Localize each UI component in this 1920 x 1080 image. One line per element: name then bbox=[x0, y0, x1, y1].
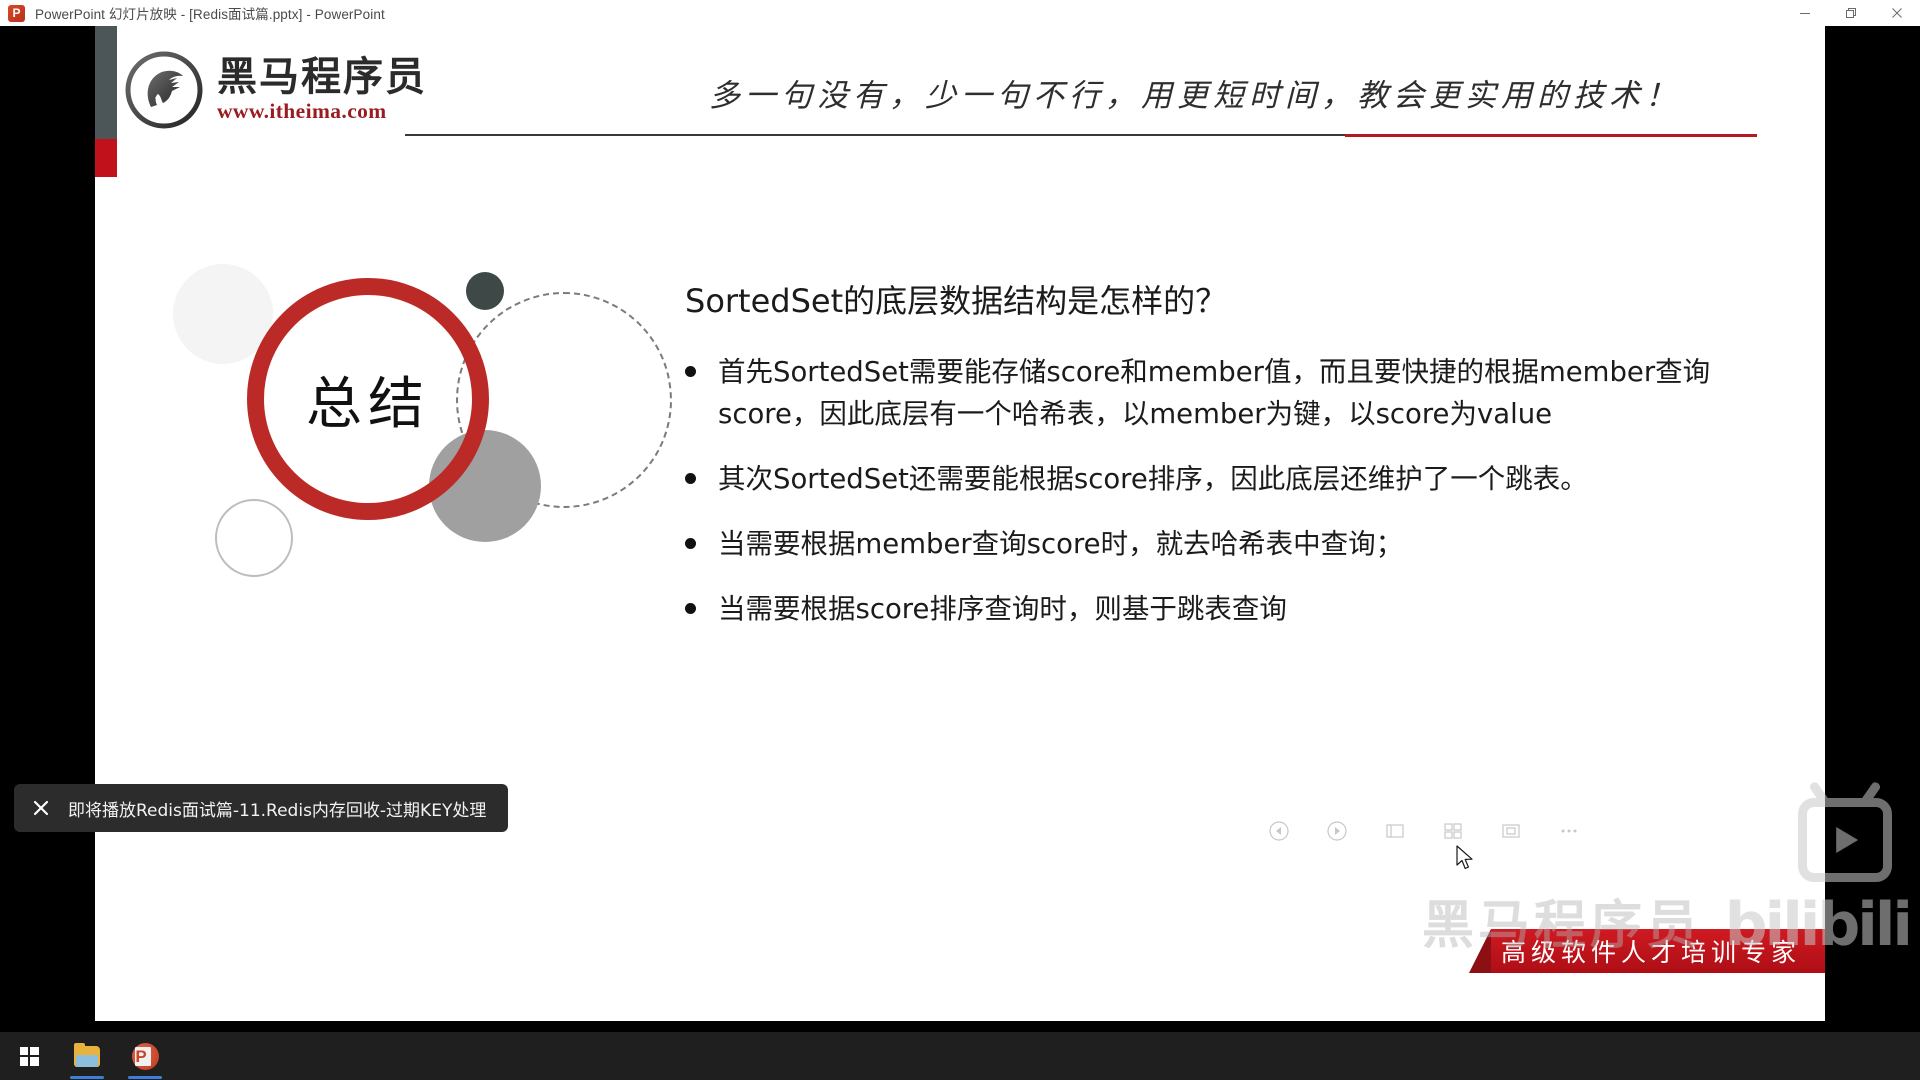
bullet-text: 当需要根据member查询score时，就去哈希表中查询； bbox=[718, 523, 1403, 566]
window-title: PowerPoint 幻灯片放映 - [Redis面试篇.pptx] - Pow… bbox=[35, 3, 385, 23]
zoom-icon[interactable] bbox=[1500, 820, 1522, 842]
tagline-rule-red-segment bbox=[1345, 134, 1757, 137]
file-explorer-icon bbox=[74, 1046, 100, 1067]
horse-head-logo-icon bbox=[125, 51, 203, 129]
bullet-dot-icon bbox=[685, 538, 696, 549]
taskbar-item-file-explorer[interactable] bbox=[58, 1032, 116, 1080]
decor-circle-dark-dot bbox=[466, 272, 504, 310]
brand-url: www.itheima.com bbox=[217, 99, 427, 124]
window-titlebar: P PowerPoint 幻灯片放映 - [Redis面试篇.pptx] - P… bbox=[0, 0, 1920, 26]
list-item: 其次SortedSet还需要能根据score排序，因此底层还维护了一个跳表。 bbox=[685, 458, 1745, 501]
close-button[interactable] bbox=[1874, 0, 1920, 26]
slide-footer-ribbon: 高级软件人才培训专家 bbox=[1469, 929, 1825, 973]
start-button[interactable] bbox=[0, 1032, 58, 1080]
summary-ring: 总结 bbox=[247, 278, 489, 520]
next-slide-icon[interactable] bbox=[1326, 820, 1348, 842]
more-options-icon[interactable] bbox=[1558, 820, 1580, 842]
bullet-text: 首先SortedSet需要能存储score和member值，而且要快捷的根据me… bbox=[718, 351, 1745, 437]
content-heading: SortedSet的底层数据结构是怎样的？ bbox=[685, 281, 1745, 323]
accent-bar-red bbox=[95, 139, 117, 177]
ribbon-label: 高级软件人才培训专家 bbox=[1491, 929, 1825, 973]
slideshow-controls[interactable] bbox=[1268, 820, 1580, 842]
brand-logo-text: 黑马程序员 www.itheima.com bbox=[217, 56, 427, 124]
summary-ring-label: 总结 bbox=[306, 359, 430, 440]
slide-canvas[interactable]: 黑马程序员 www.itheima.com 多一句没有，少一句不行，用更短时间，… bbox=[95, 26, 1825, 1021]
bullet-dot-icon bbox=[685, 603, 696, 614]
minimize-button[interactable] bbox=[1782, 0, 1828, 26]
list-item: 当需要根据member查询score时，就去哈希表中查询； bbox=[685, 523, 1745, 566]
bullet-text: 其次SortedSet还需要能根据score排序，因此底层还维护了一个跳表。 bbox=[718, 458, 1588, 501]
list-item: 首先SortedSet需要能存储score和member值，而且要快捷的根据me… bbox=[685, 351, 1745, 437]
close-icon[interactable] bbox=[30, 797, 52, 819]
window-controls bbox=[1782, 0, 1920, 26]
slide-grid-icon[interactable] bbox=[1442, 820, 1464, 842]
powerpoint-icon: P bbox=[8, 5, 25, 22]
brand-name-cn: 黑马程序员 bbox=[217, 56, 427, 98]
brand-logo: 黑马程序员 www.itheima.com bbox=[125, 51, 427, 129]
powerpoint-taskbar-icon: P bbox=[132, 1043, 159, 1070]
taskbar-item-powerpoint[interactable]: P bbox=[116, 1032, 174, 1080]
prev-slide-icon[interactable] bbox=[1268, 820, 1290, 842]
bullet-dot-icon bbox=[685, 473, 696, 484]
decor-circle-outline bbox=[215, 499, 293, 577]
restore-button[interactable] bbox=[1828, 0, 1874, 26]
bullet-text: 当需要根据score排序查询时，则基于跳表查询 bbox=[718, 588, 1287, 631]
ribbon-tail-shape bbox=[1469, 929, 1491, 973]
toast-message: 即将播放Redis面试篇-11.Redis内存回收-过期KEY处理 bbox=[68, 796, 486, 821]
list-item: 当需要根据score排序查询时，则基于跳表查询 bbox=[685, 588, 1745, 631]
slide-content: SortedSet的底层数据结构是怎样的？ 首先SortedSet需要能存储sc… bbox=[685, 281, 1745, 653]
pen-options-icon[interactable] bbox=[1384, 820, 1406, 842]
titlebar-left-group: P PowerPoint 幻灯片放映 - [Redis面试篇.pptx] - P… bbox=[0, 3, 1782, 23]
bullet-dot-icon bbox=[685, 366, 696, 377]
windows-logo-icon bbox=[20, 1047, 39, 1066]
accent-bar-gray bbox=[95, 26, 117, 139]
next-video-toast[interactable]: 即将播放Redis面试篇-11.Redis内存回收-过期KEY处理 bbox=[14, 784, 508, 832]
slide-tagline: 多一句没有，少一句不行，用更短时间，教会更实用的技术！ bbox=[635, 70, 1755, 115]
windows-taskbar: P bbox=[0, 1032, 1920, 1080]
